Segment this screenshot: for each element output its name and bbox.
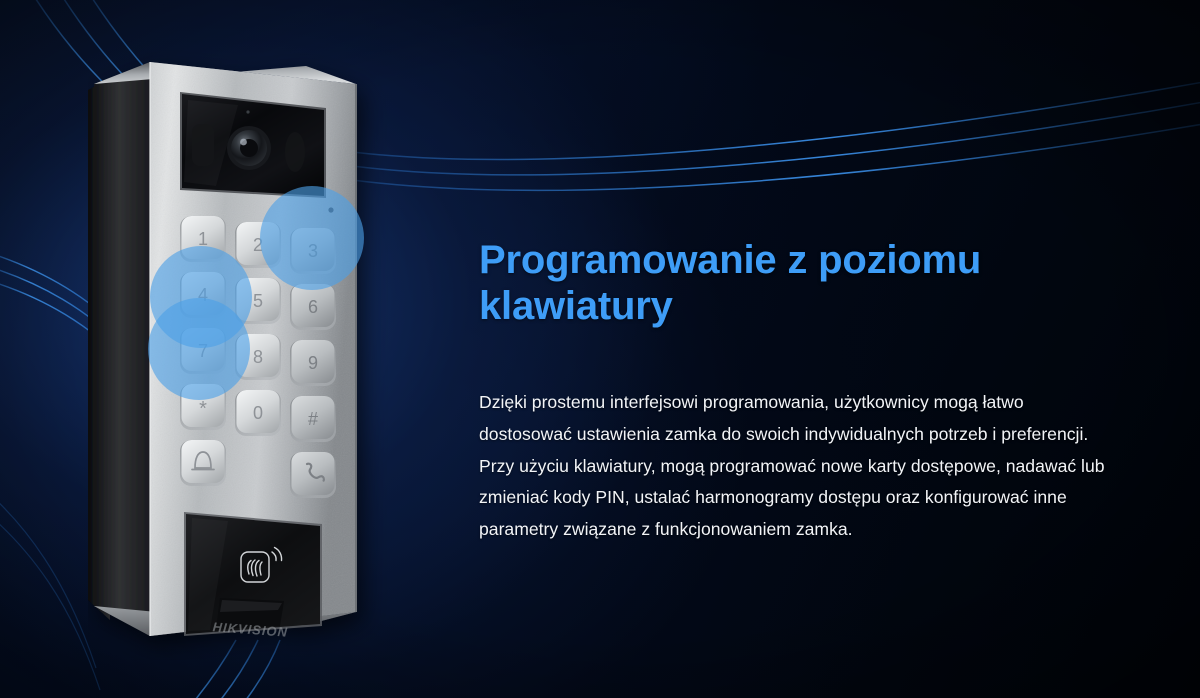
status-led bbox=[328, 207, 333, 212]
page-title-line2: klawiatury bbox=[479, 284, 1119, 330]
access-control-device: 1 2 3 4 bbox=[88, 40, 408, 660]
key-phone[interactable] bbox=[290, 452, 336, 498]
device-illustration: 1 2 3 4 bbox=[88, 40, 408, 660]
key-0-label: 0 bbox=[253, 403, 263, 423]
page-title: Programowanie z poziomu klawiatury bbox=[479, 238, 1119, 329]
body-paragraph: Dzięki prostemu interfejsowi programowan… bbox=[479, 387, 1113, 545]
key-bell[interactable] bbox=[180, 440, 226, 486]
key-1-label: 1 bbox=[198, 229, 208, 249]
card-reader[interactable] bbox=[184, 512, 322, 636]
ir-window-left bbox=[192, 124, 214, 166]
key-hash[interactable]: # bbox=[290, 396, 336, 442]
mic-hole bbox=[246, 110, 249, 113]
key-0[interactable]: 0 bbox=[235, 390, 281, 436]
page-title-line1: Programowanie z poziomu bbox=[479, 238, 981, 282]
text-column: Programowanie z poziomu klawiatury Dzięk… bbox=[479, 238, 1119, 545]
ir-window-right bbox=[285, 132, 305, 172]
key-hash-label: # bbox=[308, 409, 318, 429]
key-asterisk[interactable]: * bbox=[180, 384, 226, 430]
key-7[interactable]: 7 bbox=[180, 328, 226, 374]
key-8[interactable]: 8 bbox=[235, 334, 281, 380]
poster-background: 1 2 3 4 bbox=[0, 0, 1200, 698]
key-3[interactable]: 3 bbox=[290, 228, 336, 274]
device-side-edge bbox=[88, 78, 110, 620]
key-6-label: 6 bbox=[308, 297, 318, 317]
key-7-label: 7 bbox=[198, 341, 208, 361]
camera-module bbox=[180, 92, 326, 198]
key-9[interactable]: 9 bbox=[290, 340, 336, 386]
camera-lens bbox=[227, 126, 271, 170]
key-5-label: 5 bbox=[253, 291, 263, 311]
key-4-label: 4 bbox=[198, 285, 208, 305]
key-3-label: 3 bbox=[308, 241, 318, 261]
key-9-label: 9 bbox=[308, 353, 318, 373]
key-8-label: 8 bbox=[253, 347, 263, 367]
key-1[interactable]: 1 bbox=[180, 216, 226, 262]
key-asterisk-label: * bbox=[199, 398, 207, 420]
key-4[interactable]: 4 bbox=[180, 272, 226, 318]
key-2-label: 2 bbox=[253, 235, 263, 255]
key-5[interactable]: 5 bbox=[235, 278, 281, 324]
key-2[interactable]: 2 bbox=[235, 222, 281, 268]
key-6[interactable]: 6 bbox=[290, 284, 336, 330]
